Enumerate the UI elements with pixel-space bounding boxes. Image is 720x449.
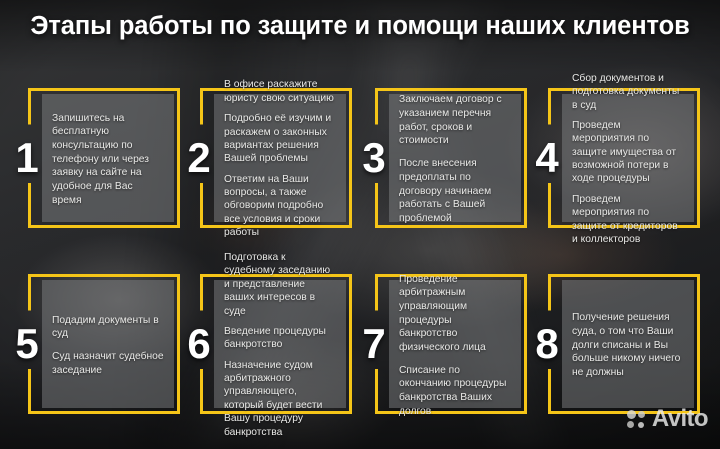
step-paragraph: Суд назначит судебное заседание: [52, 350, 164, 377]
step-paragraph: Подробно её изучим и раскажем о законных…: [224, 112, 336, 166]
step-paragraph: Назначение судом арбитражного управляюще…: [224, 359, 336, 439]
step-card-3: 3 Заключаем договор с указанием перечня …: [375, 88, 527, 228]
step-paragraph: Введение процедуры банкротство: [224, 325, 336, 352]
step-paragraph: Получение решения суда, о том что Ваши д…: [572, 311, 684, 379]
step-card-5: 5 Подадим документы в суд Суд назначит с…: [28, 274, 180, 414]
step-number: 5: [10, 323, 44, 365]
step-paragraph: В офисе раскажите юристу свою ситуацию: [224, 78, 336, 105]
step-card-body: Запишитесь на бесплатную консультацию по…: [42, 88, 174, 228]
step-card-body: Получение решения суда, о том что Ваши д…: [562, 274, 694, 414]
step-card-2: 2 В офисе раскажите юристу свою ситуацию…: [200, 88, 352, 228]
step-card-body: Проведение арбитражным управляющим проце…: [389, 274, 521, 414]
step-card-body: Сбор документов и подготовка документы в…: [562, 88, 694, 228]
step-paragraph: После внесения предоплаты по договору на…: [399, 157, 511, 225]
step-paragraph: Заключаем договор с указанием перечня ра…: [399, 93, 511, 148]
step-card-body: Подготовка к судебному заседанию и предс…: [214, 274, 346, 414]
step-number: 4: [530, 137, 564, 179]
step-paragraph: Списание по окончанию процедуры банкротс…: [399, 364, 511, 419]
step-paragraph: Запишитесь на бесплатную консультацию по…: [52, 112, 164, 208]
step-paragraph: Проведем мероприятия по защите имущества…: [572, 119, 684, 186]
step-paragraph: Ответим на Ваши вопросы, а также обговор…: [224, 173, 336, 240]
avito-watermark: Avito: [627, 407, 708, 431]
step-card-4: 4 Сбор документов и подготовка документы…: [548, 88, 700, 228]
step-card-8: 8 Получение решения суда, о том что Ваши…: [548, 274, 700, 414]
step-card-body: Заключаем договор с указанием перечня ра…: [389, 88, 521, 228]
step-card-body: В офисе раскажите юристу свою ситуацию П…: [214, 88, 346, 228]
page-title: Этапы работы по защите и помощи наших кл…: [0, 12, 720, 41]
step-paragraph: Подготовка к судебному заседанию и предс…: [224, 251, 336, 318]
step-number: 7: [357, 323, 391, 365]
step-paragraph: Подадим документы в суд: [52, 314, 164, 341]
step-number: 2: [182, 137, 216, 179]
step-card-1: 1 Запишитесь на бесплатную консультацию …: [28, 88, 180, 228]
step-number: 1: [10, 137, 44, 179]
step-card-6: 6 Подготовка к судебному заседанию и пре…: [200, 274, 352, 414]
avito-dots-icon: [627, 410, 648, 429]
step-card-body: Подадим документы в суд Суд назначит суд…: [42, 274, 174, 414]
step-card-7: 7 Проведение арбитражным управляющим про…: [375, 274, 527, 414]
infographic-root: Этапы работы по защите и помощи наших кл…: [0, 0, 720, 449]
avito-watermark-label: Avito: [652, 407, 708, 431]
step-number: 3: [357, 137, 391, 179]
step-paragraph: Сбор документов и подготовка документы в…: [572, 72, 684, 112]
step-number: 8: [530, 323, 564, 365]
step-paragraph: Проведение арбитражным управляющим проце…: [399, 273, 511, 355]
step-number: 6: [182, 323, 216, 365]
step-paragraph: Проведем мероприятия по защите от кредит…: [572, 193, 684, 247]
